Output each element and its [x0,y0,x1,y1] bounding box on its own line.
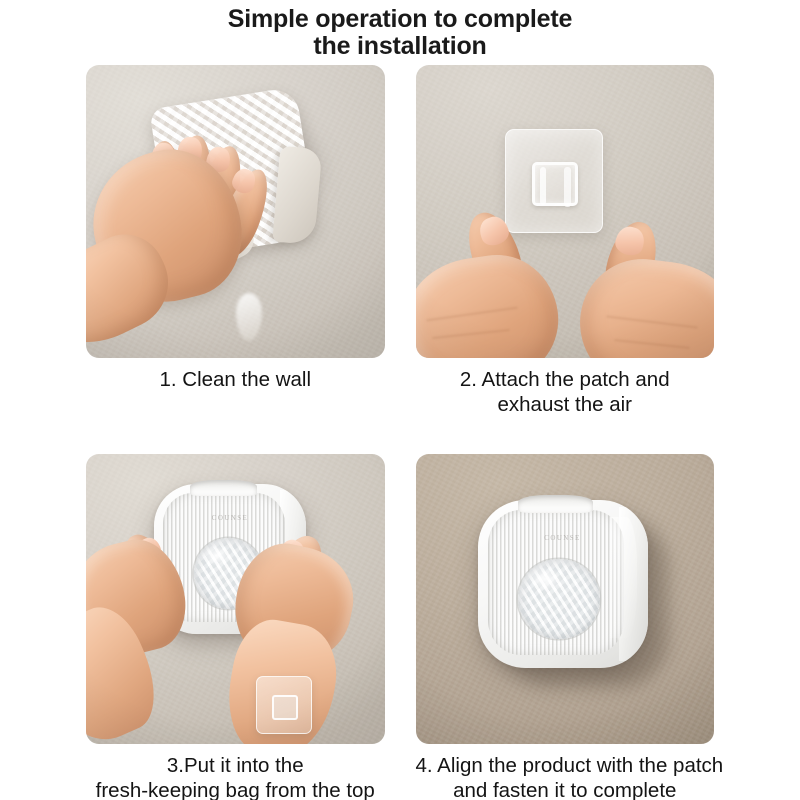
photo-vignette [86,454,385,744]
photo-vignette [416,65,715,358]
steps-row-top: 1. Clean the wall [86,65,714,417]
step-3-caption: 3.Put it into the fresh-keeping bag from… [86,744,385,800]
step-2-caption-line-2: exhaust the air [416,392,715,417]
step-1-caption: 1. Clean the wall [86,358,385,392]
photo-vignette [86,65,385,358]
step-2-photo [416,65,715,358]
step-2-cell: 2. Attach the patch and exhaust the air [416,65,715,417]
step-1-caption-line-1: 1. Clean the wall [86,367,385,392]
step-4-photo: COUNSE [416,454,715,744]
step-3-caption-line-2: fresh-keeping bag from the top [86,778,385,800]
page-title-line-2: the installation [0,33,800,60]
step-4-caption-line-1: 4. Align the product with the patch [416,753,715,778]
step-1-cell: 1. Clean the wall [86,65,385,417]
step-4-caption-line-2: and fasten it to complete [416,778,715,800]
installation-guide-page: Simple operation to complete the install… [0,0,800,800]
steps-grid: 1. Clean the wall [86,65,714,800]
page-title-line-1: Simple operation to complete [0,6,800,33]
step-3-photo: COUNSE [86,454,385,744]
steps-row-bottom: COUNSE [86,454,714,800]
page-title: Simple operation to complete the install… [0,0,800,60]
step-4-cell: COUNSE 4. Align the product with the pat… [416,454,715,800]
step-3-cell: COUNSE [86,454,385,800]
step-1-photo [86,65,385,358]
step-4-caption: 4. Align the product with the patch and … [416,744,715,800]
step-2-caption: 2. Attach the patch and exhaust the air [416,358,715,417]
step-2-caption-line-1: 2. Attach the patch and [416,367,715,392]
step-3-caption-line-1: 3.Put it into the [86,753,385,778]
photo-vignette [416,454,715,744]
